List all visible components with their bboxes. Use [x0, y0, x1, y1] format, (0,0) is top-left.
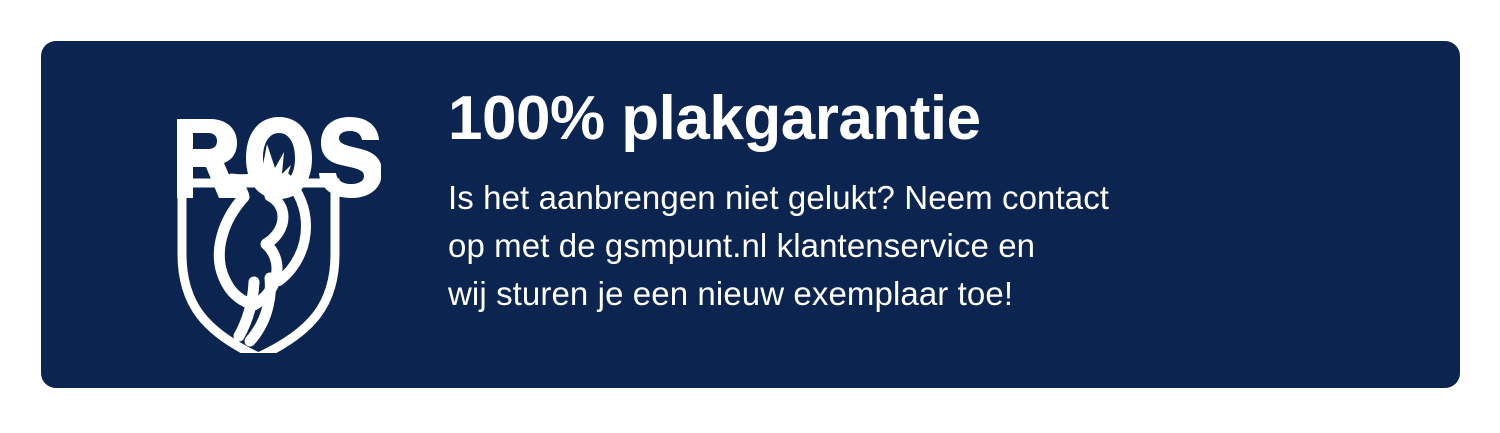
copy-block: 100% plakgarantie Is het aanbrengen niet… — [448, 83, 1428, 318]
promo-card: 100% plakgarantie Is het aanbrengen niet… — [41, 41, 1460, 388]
rosso-logo — [136, 78, 381, 353]
promo-body-line-2: op met de gsmpunt.nl klantenservice en — [448, 222, 1428, 270]
promo-banner: 100% plakgarantie Is het aanbrengen niet… — [0, 0, 1500, 433]
promo-body-line-3: wij sturen je een nieuw exemplaar toe! — [448, 270, 1428, 318]
promo-body-line-1: Is het aanbrengen niet gelukt? Neem cont… — [448, 174, 1428, 222]
promo-body: Is het aanbrengen niet gelukt? Neem cont… — [448, 174, 1428, 318]
promo-heading: 100% plakgarantie — [448, 83, 1428, 155]
